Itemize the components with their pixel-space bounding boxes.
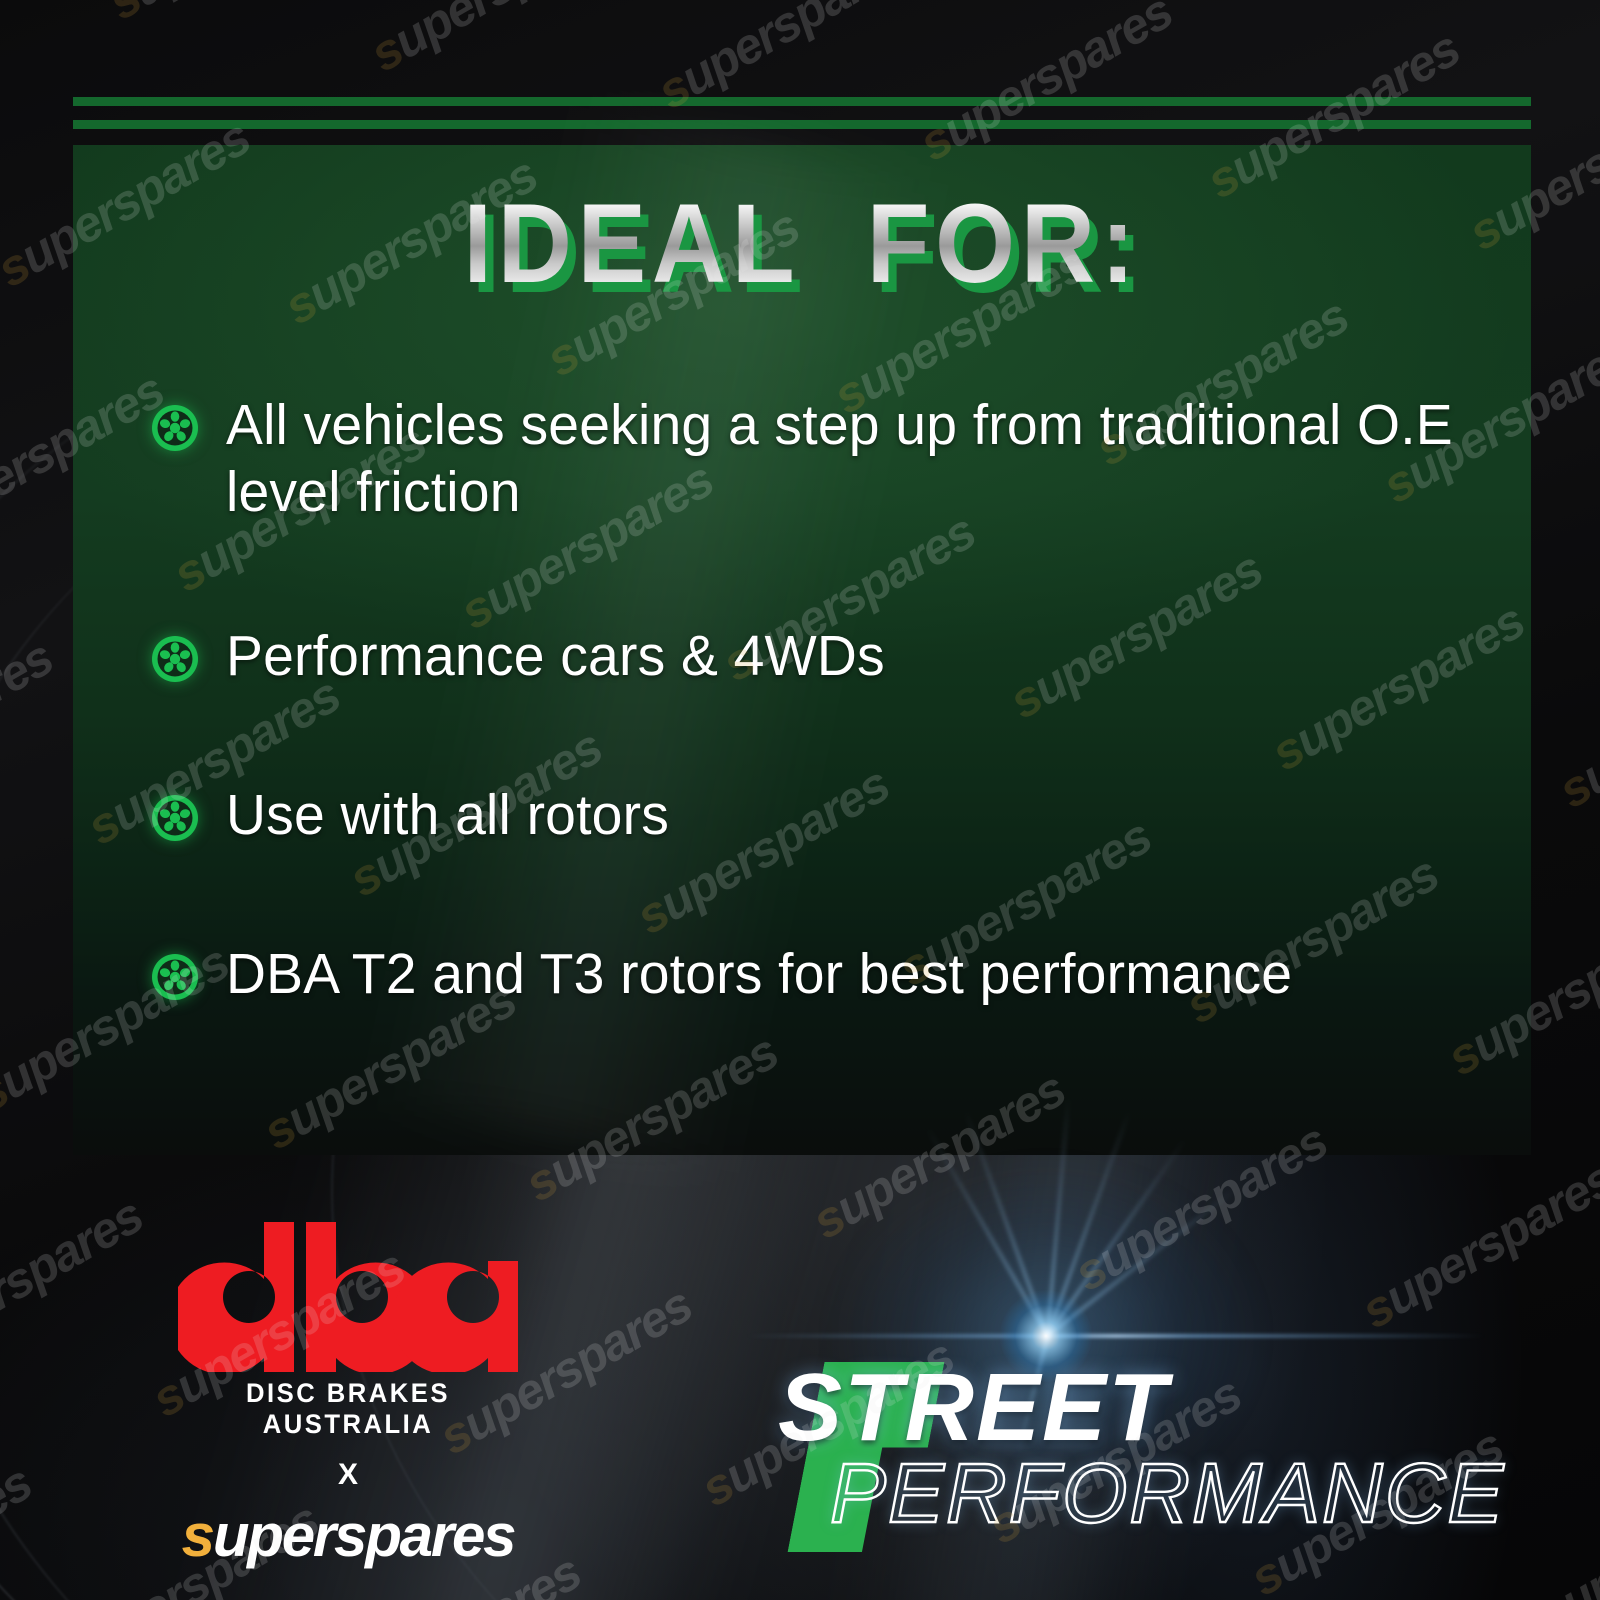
dba-wordmark xyxy=(178,1222,518,1372)
list-item: Use with all rotors xyxy=(150,782,1530,849)
page-title-text: IDEAL FOR: xyxy=(463,181,1140,306)
page-title: IDEAL FOR: IDEAL FOR: xyxy=(73,188,1531,300)
accent-stripe-bottom xyxy=(73,120,1531,129)
list-item: All vehicles seeking a step up from trad… xyxy=(150,392,1530,527)
list-item: Performance cars & 4WDs xyxy=(150,623,1530,690)
promo-banner: IDEAL FOR: IDEAL FOR: xyxy=(0,0,1600,1600)
street-performance-logo: STREET PERFORMANCE xyxy=(778,1318,1578,1548)
list-item-label: Performance cars & 4WDs xyxy=(226,623,885,690)
superspares-logo: superspares xyxy=(168,1506,528,1566)
street-performance-line2: PERFORMANCE xyxy=(830,1446,1505,1540)
list-item-label: Use with all rotors xyxy=(226,782,669,849)
lens-flare xyxy=(1046,1336,1048,1338)
superspares-logo-rest: uperspares xyxy=(213,1502,515,1569)
feature-list: All vehicles seeking a step up from trad… xyxy=(150,392,1530,1008)
street-performance-line1: STREET xyxy=(778,1354,1169,1461)
wheel-icon xyxy=(150,634,200,684)
wheel-icon xyxy=(150,403,200,453)
wheel-icon xyxy=(150,793,200,843)
wheel-icon xyxy=(150,952,200,1002)
superspares-logo-initial: s xyxy=(182,1502,213,1569)
list-item-label: DBA T2 and T3 rotors for best performanc… xyxy=(226,941,1292,1008)
list-item: DBA T2 and T3 rotors for best performanc… xyxy=(150,941,1530,1008)
dba-tagline: DISC BRAKES AUSTRALIA xyxy=(177,1378,519,1440)
dba-logo-lockup: DISC BRAKES AUSTRALIA X superspares xyxy=(168,1222,528,1566)
list-item-label: All vehicles seeking a step up from trad… xyxy=(226,392,1491,527)
collab-separator: X xyxy=(168,1458,528,1492)
accent-stripe-top xyxy=(73,97,1531,106)
